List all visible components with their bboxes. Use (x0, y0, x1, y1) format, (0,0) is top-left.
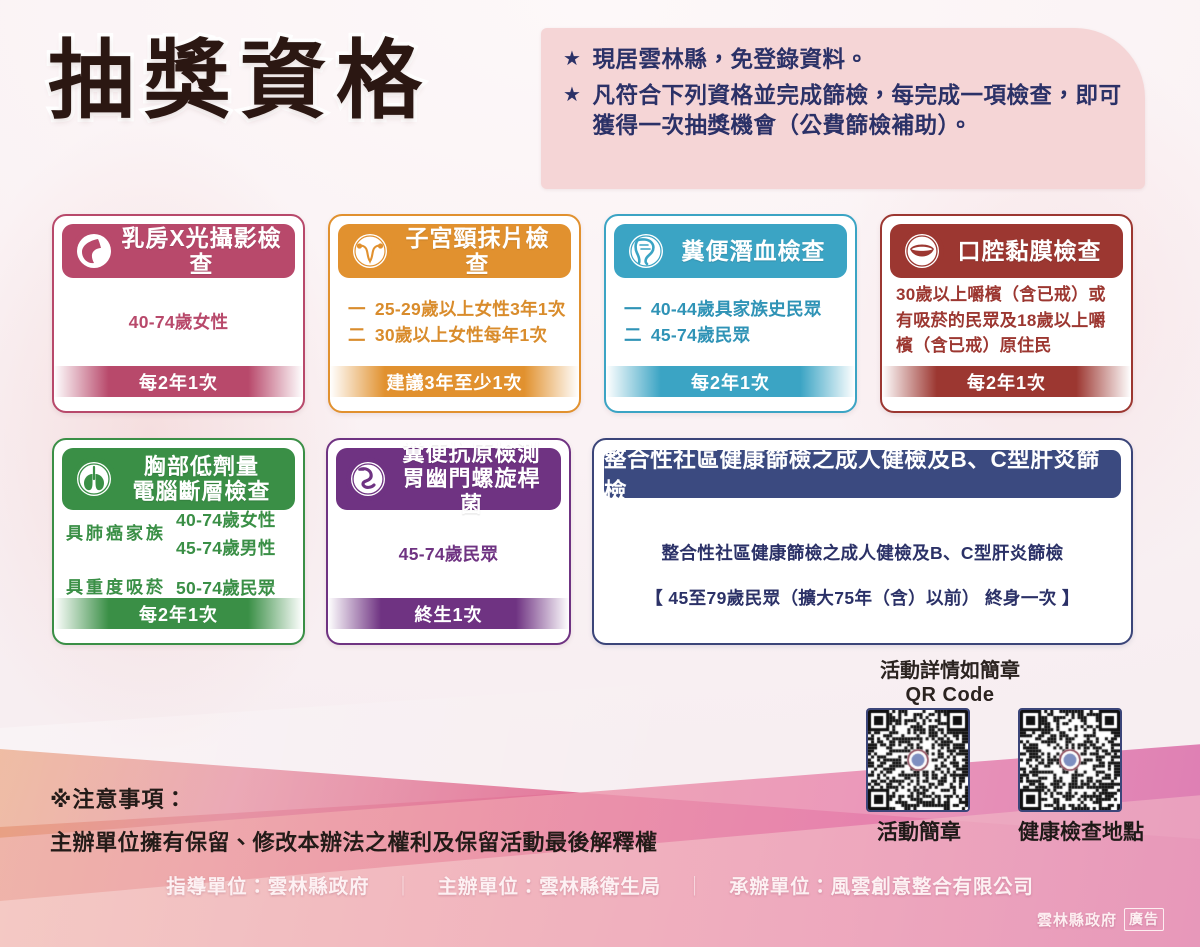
event-brochure-qr-icon[interactable] (866, 708, 970, 812)
card-body-line: 45-74歲民眾 (399, 542, 499, 567)
card-title: 子宮頸抹片檢查 (396, 225, 565, 278)
poster-canvas: 抽獎資格 ★ 現居雲林縣，免登錄資料。 ★ 凡符合下列資格並完成篩檢，每完成一項… (0, 0, 1200, 947)
lungs-icon (72, 457, 116, 501)
card-header: 子宮頸抹片檢查 (338, 224, 571, 278)
credit-separator: ｜ (393, 870, 413, 899)
card-title: 糞便潛血檢查 (672, 238, 841, 264)
qr-caption-line-1: 活動詳情如簡章 (820, 660, 1080, 684)
qr-caption: 活動詳情如簡章 QR Code (820, 660, 1080, 707)
credits-bar: 指導單位：雲林縣政府 ｜ 主辦單位：雲林縣衛生局 ｜ 承辦單位：風雲創意整合有限… (0, 866, 1200, 902)
card-list-item: 二 30歲以上女性每年1次 (348, 323, 547, 348)
credit-executor: 承辦單位：風雲創意整合有限公司 (729, 870, 1034, 899)
card-title: 糞便抗原檢測 胃幽門螺旋桿菌 (394, 441, 555, 517)
list-number: 一 (624, 297, 642, 322)
list-number: 二 (348, 323, 366, 348)
card-title-line-2: 電腦斷層檢查 (132, 479, 270, 504)
wide-card-body: 整合性社區健康篩檢之成人健檢及B、C型肝炎篩檢 【 45至79歲民眾（擴大75年… (614, 520, 1111, 629)
card-footer-badge: 每2年1次 (54, 598, 303, 629)
card-body: 40-74歲女性 (64, 286, 293, 359)
wide-card-body-line-1: 整合性社區健康篩檢之成人健檢及B、C型肝炎篩檢 (662, 540, 1064, 565)
qr-item-event-brochure[interactable]: 活動簡章 (866, 708, 972, 846)
card-list-item: 一 25-29歲以上女性3年1次 (348, 297, 566, 322)
card-cervical-pap-smear[interactable]: 子宮頸抹片檢查 一 25-29歲以上女性3年1次 二 30歲以上女性每年1次 建… (328, 214, 581, 413)
card-footer-badge: 每2年1次 (54, 366, 303, 397)
card-header: 糞便抗原檢測 胃幽門螺旋桿菌 (336, 448, 561, 510)
card-list-item: 一 40-44歲具家族史民眾 (624, 297, 822, 322)
card-fecal-occult-blood[interactable]: 糞便潛血檢查 一 40-44歲具家族史民眾 二 45-74歲民眾 每2年1次 (604, 214, 857, 413)
card-h-pylori-stool-antigen[interactable]: 糞便抗原檢測 胃幽門螺旋桿菌 45-74歲民眾 終生1次 (326, 438, 571, 645)
list-text: 25-29歲以上女性3年1次 (375, 297, 566, 322)
advertiser-name: 雲林縣政府 (1037, 909, 1117, 930)
list-text: 30歲以上女性每年1次 (375, 323, 548, 348)
notes-section: ※注意事項： 主辦單位擁有保留、修改本辦法之權利及保留活動最後解釋權 (50, 782, 850, 857)
qr-item-checkup-location[interactable]: 健康檢查地點 (1018, 708, 1124, 846)
card-body-line: 40-74歲女性 (129, 310, 229, 335)
card-footer-badge: 終生1次 (328, 598, 569, 629)
card-footer-badge: 每2年1次 (882, 366, 1131, 397)
colon-icon (624, 229, 668, 273)
row-value: 40-74歲女性 (176, 508, 276, 533)
card-title: 口腔黏膜檢查 (948, 238, 1117, 264)
list-number: 二 (624, 323, 642, 348)
card-body: 具肺癌家族 40-74歲女性 45-74歲男性 具重度吸菸 50-74歲民眾 (66, 518, 293, 591)
row-label: 具重度吸菸 (66, 576, 166, 601)
credit-organizer: 主辦單位：雲林縣衛生局 (438, 870, 661, 899)
card-body: 一 40-44歲具家族史民眾 二 45-74歲民眾 (624, 286, 847, 359)
list-number: 一 (348, 297, 366, 322)
qr-label: 健康檢查地點 (1018, 816, 1124, 846)
checkup-location-qr-icon[interactable] (1018, 708, 1122, 812)
list-text: 45-74歲民眾 (651, 323, 751, 348)
card-header: 乳房X光攝影檢查 (62, 224, 295, 278)
card-low-dose-chest-ct[interactable]: 胸部低劑量 電腦斷層檢查 具肺癌家族 40-74歲女性 45-74歲男性 具重度… (52, 438, 305, 645)
card-title-line-2: 胃幽門螺旋桿菌 (402, 466, 540, 516)
credit-advisor: 指導單位：雲林縣政府 (166, 870, 369, 899)
row-value: 45-74歲男性 (176, 536, 276, 561)
advertisement-badge: 廣告 (1124, 908, 1164, 931)
notes-title: ※注意事項： (50, 782, 850, 814)
card-title-line-1: 糞便抗原檢測 (402, 441, 540, 466)
card-title: 胸部低劑量 電腦斷層檢查 (120, 454, 289, 505)
qr-section: 活動詳情如簡章 QR Code 活動簡章 健康檢查地點 (820, 660, 1165, 850)
mouth-icon (900, 229, 944, 273)
card-list-item: 二 45-74歲民眾 (624, 323, 750, 348)
card-breast-mammography[interactable]: 乳房X光攝影檢查 40-74歲女性 每2年1次 (52, 214, 305, 413)
wide-card-body-line-2: 【 45至79歲民眾（擴大75年（含）以前） 終身一次 】 (645, 585, 1080, 610)
credit-separator: ｜ (685, 870, 705, 899)
row-values: 40-74歲女性 45-74歲男性 (176, 508, 276, 562)
card-body: 45-74歲民眾 (338, 518, 559, 591)
card-community-health-screening[interactable]: 整合性社區健康篩檢之成人健檢及B、C型肝炎篩檢 整合性社區健康篩檢之成人健檢及B… (592, 438, 1133, 645)
card-body: 30歲以上嚼檳（含已戒）或有吸菸的民眾及18歲以上嚼檳（含已戒）原住民 (896, 282, 1119, 359)
qr-caption-line-2: QR Code (820, 684, 1080, 708)
card-header: 胸部低劑量 電腦斷層檢查 (62, 448, 295, 510)
notes-text: 主辦單位擁有保留、修改本辦法之權利及保留活動最後解釋權 (50, 825, 850, 857)
card-header: 糞便潛血檢查 (614, 224, 847, 278)
card-header: 口腔黏膜檢查 (890, 224, 1123, 278)
card-title: 乳房X光攝影檢查 (120, 225, 289, 278)
eligibility-row: 具肺癌家族 40-74歲女性 45-74歲男性 (66, 508, 293, 562)
card-title-line-1: 胸部低劑量 (144, 454, 259, 479)
eligibility-rows: 具肺癌家族 40-74歲女性 45-74歲男性 具重度吸菸 50-74歲民眾 (66, 508, 293, 601)
qr-label: 活動簡章 (866, 816, 972, 846)
card-footer-badge: 建議3年至少1次 (330, 366, 579, 397)
wide-card-header: 整合性社區健康篩檢之成人健檢及B、C型肝炎篩檢 (604, 450, 1121, 498)
row-label: 具肺癌家族 (66, 522, 166, 547)
stomach-icon (346, 457, 390, 501)
card-footer-badge: 每2年1次 (606, 366, 855, 397)
card-oral-mucosa[interactable]: 口腔黏膜檢查 30歲以上嚼檳（含已戒）或有吸菸的民眾及18歲以上嚼檳（含已戒）原… (880, 214, 1133, 413)
list-text: 40-44歲具家族史民眾 (651, 297, 822, 322)
breast-icon (72, 229, 116, 273)
advertiser-mark: 雲林縣政府 廣告 (1037, 908, 1164, 931)
uterus-icon (348, 229, 392, 273)
card-body-line: 30歲以上嚼檳（含已戒）或有吸菸的民眾及18歲以上嚼檳（含已戒）原住民 (896, 282, 1119, 359)
card-body: 一 25-29歲以上女性3年1次 二 30歲以上女性每年1次 (348, 286, 571, 359)
